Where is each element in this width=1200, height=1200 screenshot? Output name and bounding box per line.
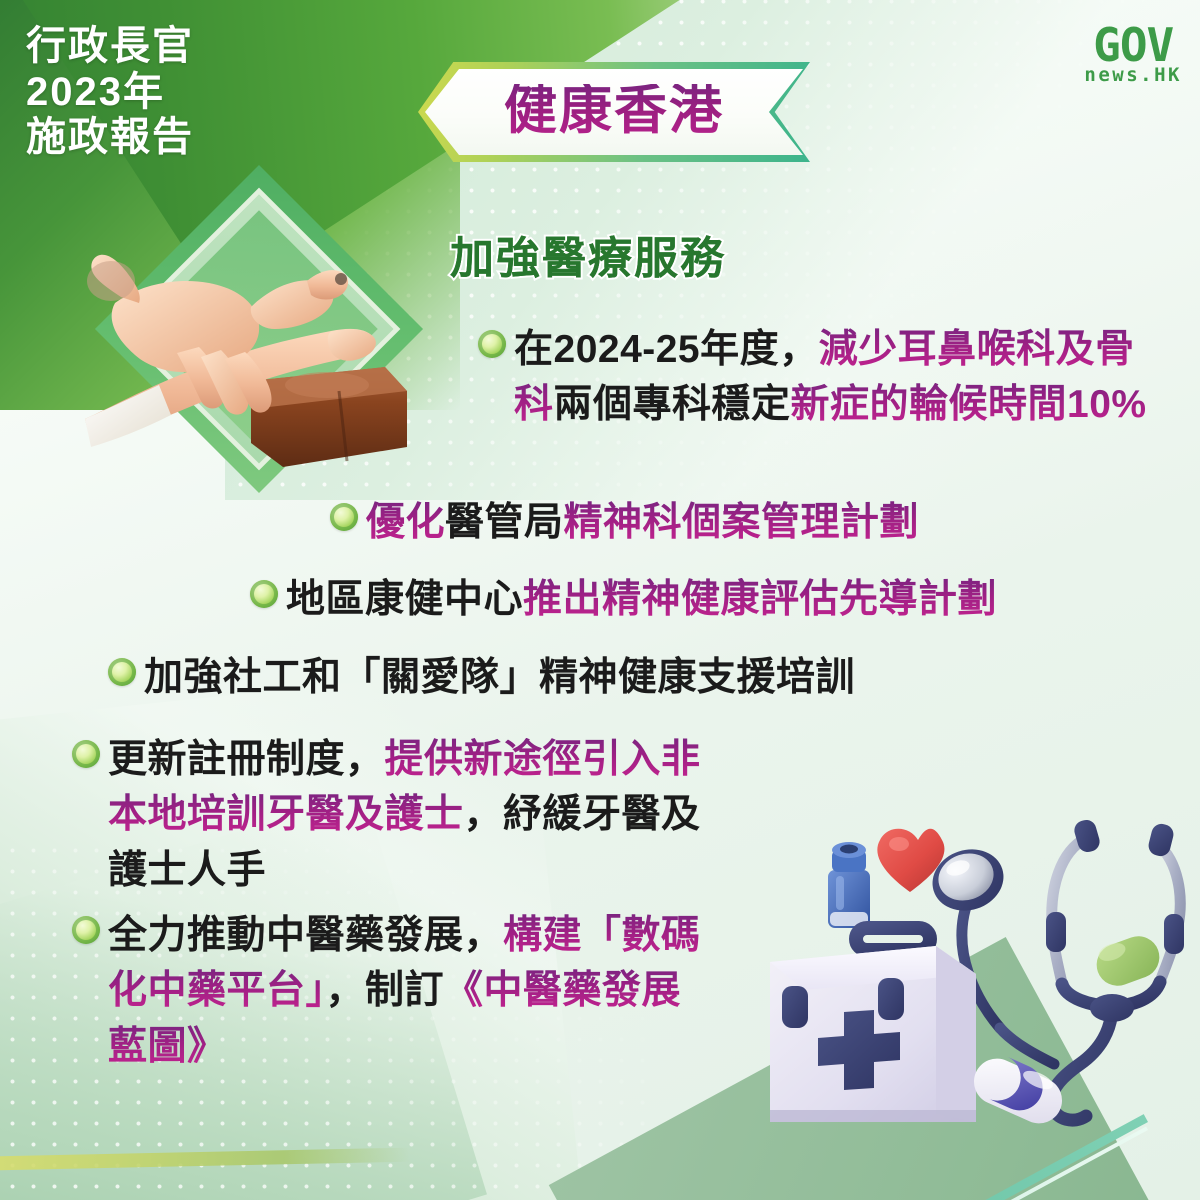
bullet-marker-icon [250,580,278,608]
topic-badge: 健康香港 [418,62,810,162]
bullet-chinese-medicine: 全力推動中醫藥發展，構建「數碼化中藥平台」，制訂《中醫藥發展藍圖》 [108,908,708,1074]
bullet-text-segment: ，制訂 [326,969,445,1012]
bullet-text-segment: 加強社工和「關愛隊」精神健康支援培訓 [144,656,855,699]
govnews-logo: GOV news.HK [1084,24,1182,85]
bullet-marker-icon [478,330,506,358]
bullet-social-worker-training: 加強社工和「關愛隊」精神健康支援培訓 [108,650,938,705]
tcm-pulse-diagnosis-photo [55,185,475,495]
govnews-logo-primary: GOV [1084,24,1182,66]
report-title: 行政長官 2023年 施政報告 [26,24,256,161]
infographic-poster: 行政長官 2023年 施政報告 GOV news.HK 健康香港 [0,0,1200,1200]
bullet-waiting-time: 在2024-25年度，減少耳鼻喉科及骨科兩個專科穩定新症的輪候時間10% [514,322,1154,433]
bullet-mental-health-pilot: 地區康健中心推出精神健康評估先導計劃 [250,572,1040,627]
topic-badge-title: 健康香港 [504,84,724,141]
pulse-diagnosis-illustration [55,185,475,495]
bullet-text-segment-highlight: 推出精神健康評估先導計劃 [523,578,997,621]
bullet-registration-system: 更新註冊制度，提供新途徑引入非本地培訓牙醫及護士，紓緩牙醫及護士人手 [108,732,738,898]
bullet-text-segment: 全力推動中醫藥發展， [108,914,503,957]
bullet-marker-icon [330,503,358,531]
medicine-vial-icon [828,842,870,928]
report-title-line-3: 施政報告 [26,115,256,161]
medical-kit-stethoscope-illustration [760,792,1190,1142]
bullet-marker-icon [72,916,100,944]
bullet-text-segment-highlight: 優化 [366,501,445,544]
govnews-logo-secondary: news.HK [1084,66,1182,85]
bullet-text-segment-highlight: 精神科個案管理計劃 [564,501,920,544]
bullet-marker-icon [108,658,136,686]
bullet-marker-icon [72,740,100,768]
first-aid-kit-icon [770,928,976,1122]
topic-badge-body: 健康香港 [425,69,803,155]
report-title-line-2: 2023年 [26,70,256,116]
bullet-text-segment: 兩個專科穩定 [554,383,791,426]
bullet-text-segment: 醫管局 [445,501,564,544]
bullet-text-segment: 更新註冊制度， [108,738,385,781]
report-title-line-1: 行政長官 [26,24,256,70]
bullet-text-segment: 地區康健中心 [286,578,523,621]
section-title: 加強醫療服務 [450,222,726,286]
bullet-case-management: 優化醫管局精神科個案管理計劃 [330,495,1030,550]
bullet-text-segment: 在2024-25年度， [514,328,819,371]
bullet-text-segment-highlight: 新症的輪候時間10% [791,383,1147,426]
wrist-cushion [251,367,407,467]
